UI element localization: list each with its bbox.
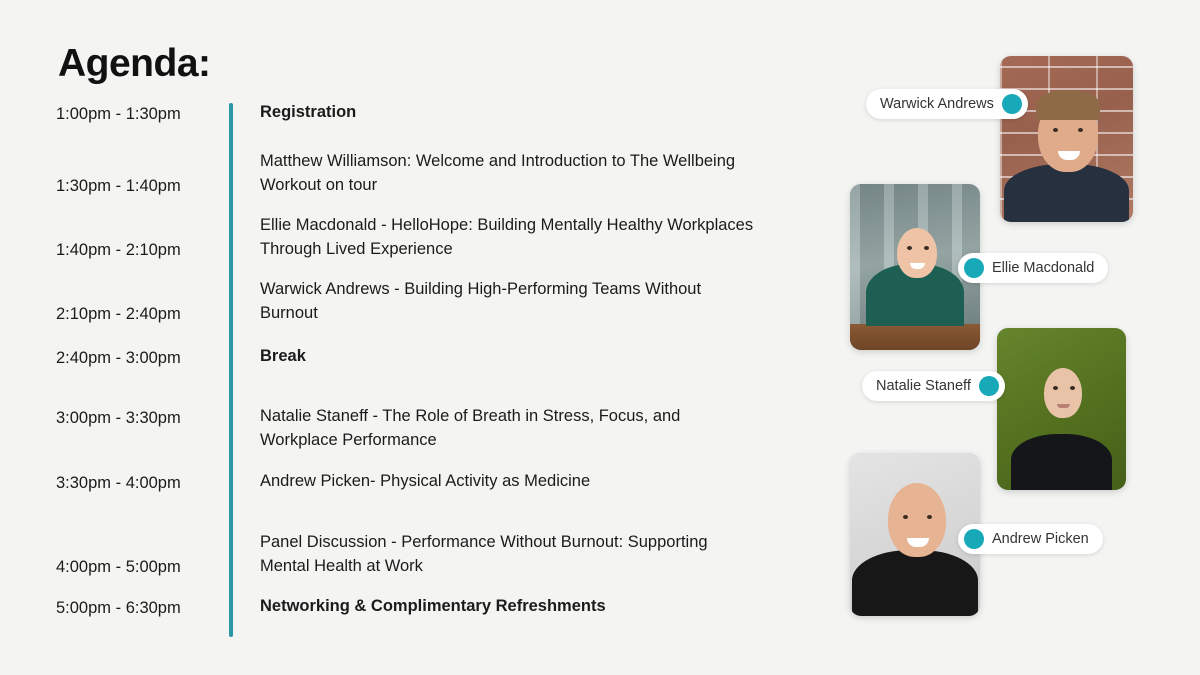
agenda-time: 3:30pm - 4:00pm	[56, 470, 229, 494]
portrait-head	[1044, 368, 1082, 418]
agenda-time: 1:00pm - 1:30pm	[56, 101, 229, 125]
agenda-description: Networking & Complimentary Refreshments	[229, 595, 760, 619]
agenda-row: 2:10pm - 2:40pm Warwick Andrews - Buildi…	[56, 278, 816, 325]
speaker-name-label: Warwick Andrews	[872, 96, 1002, 112]
agenda-description: Warwick Andrews - Building High-Performi…	[229, 278, 760, 325]
agenda-time: 3:00pm - 3:30pm	[56, 405, 229, 429]
agenda-description: Panel Discussion - Performance Without B…	[229, 531, 760, 578]
speaker-badge-warwick-andrews: Warwick Andrews	[866, 89, 1028, 119]
agenda-row: 5:00pm - 6:30pm Networking & Complimenta…	[56, 595, 816, 619]
agenda-row: 1:30pm - 1:40pm Matthew Williamson: Welc…	[56, 150, 816, 197]
speaker-dot-icon	[964, 529, 984, 549]
agenda-description: Ellie Macdonald - HelloHope: Building Me…	[229, 214, 760, 261]
agenda-time: 5:00pm - 6:30pm	[56, 595, 229, 619]
speaker-dot-icon	[979, 376, 999, 396]
portrait-torso	[1004, 164, 1129, 222]
portrait-eye-left	[1053, 386, 1058, 390]
speaker-badge-andrew-picken: Andrew Picken	[958, 524, 1103, 554]
agenda-row: 1:00pm - 1:30pm Registration	[56, 101, 816, 125]
portrait-illustration	[997, 328, 1126, 490]
page-title: Agenda:	[58, 44, 211, 83]
speaker-name-label: Ellie Macdonald	[984, 260, 1102, 276]
portrait-eye-left	[907, 246, 912, 250]
agenda-row: 4:00pm - 5:00pm Panel Discussion - Perfo…	[56, 531, 816, 578]
portrait-hair	[1036, 90, 1100, 120]
agenda-description: Break	[229, 345, 760, 369]
agenda-list: 1:00pm - 1:30pm Registration 1:30pm - 1:…	[56, 101, 816, 619]
agenda-row: 2:40pm - 3:00pm Break	[56, 345, 816, 369]
agenda-row: 3:00pm - 3:30pm Natalie Staneff - The Ro…	[56, 405, 816, 452]
speaker-dot-icon	[1002, 94, 1022, 114]
speaker-dot-icon	[964, 258, 984, 278]
agenda-description: Matthew Williamson: Welcome and Introduc…	[229, 150, 760, 197]
portrait-mouth	[1057, 404, 1070, 408]
agenda-time: 1:30pm - 1:40pm	[56, 150, 229, 197]
portrait-desk	[850, 324, 980, 350]
portrait-eye-right	[927, 515, 932, 519]
portrait-eye-right	[1078, 128, 1083, 132]
agenda-row: 1:40pm - 2:10pm Ellie Macdonald - HelloH…	[56, 214, 816, 261]
portrait-head	[897, 228, 937, 278]
agenda-time: 2:40pm - 3:00pm	[56, 345, 229, 369]
portrait-eye-right	[1070, 386, 1075, 390]
agenda-time: 1:40pm - 2:10pm	[56, 214, 229, 261]
agenda-time: 2:10pm - 2:40pm	[56, 278, 229, 325]
speaker-badge-ellie-macdonald: Ellie Macdonald	[958, 253, 1108, 283]
speaker-badge-natalie-staneff: Natalie Staneff	[862, 371, 1005, 401]
speaker-photo-natalie-staneff	[997, 328, 1126, 490]
agenda-time: 4:00pm - 5:00pm	[56, 531, 229, 578]
portrait-torso	[1011, 434, 1112, 490]
agenda-description: Natalie Staneff - The Role of Breath in …	[229, 405, 760, 452]
portrait-eye-left	[1053, 128, 1058, 132]
portrait-eye-left	[903, 515, 908, 519]
portrait-eye-right	[924, 246, 929, 250]
speaker-photo-warwick-andrews	[1000, 56, 1133, 222]
speaker-name-label: Andrew Picken	[984, 531, 1097, 547]
agenda-row: 3:30pm - 4:00pm Andrew Picken- Physical …	[56, 470, 816, 494]
portrait-illustration	[1000, 56, 1133, 222]
speaker-name-label: Natalie Staneff	[868, 378, 979, 394]
agenda-description: Registration	[229, 101, 760, 125]
portrait-torso	[852, 550, 978, 616]
agenda-description: Andrew Picken- Physical Activity as Medi…	[229, 470, 760, 494]
